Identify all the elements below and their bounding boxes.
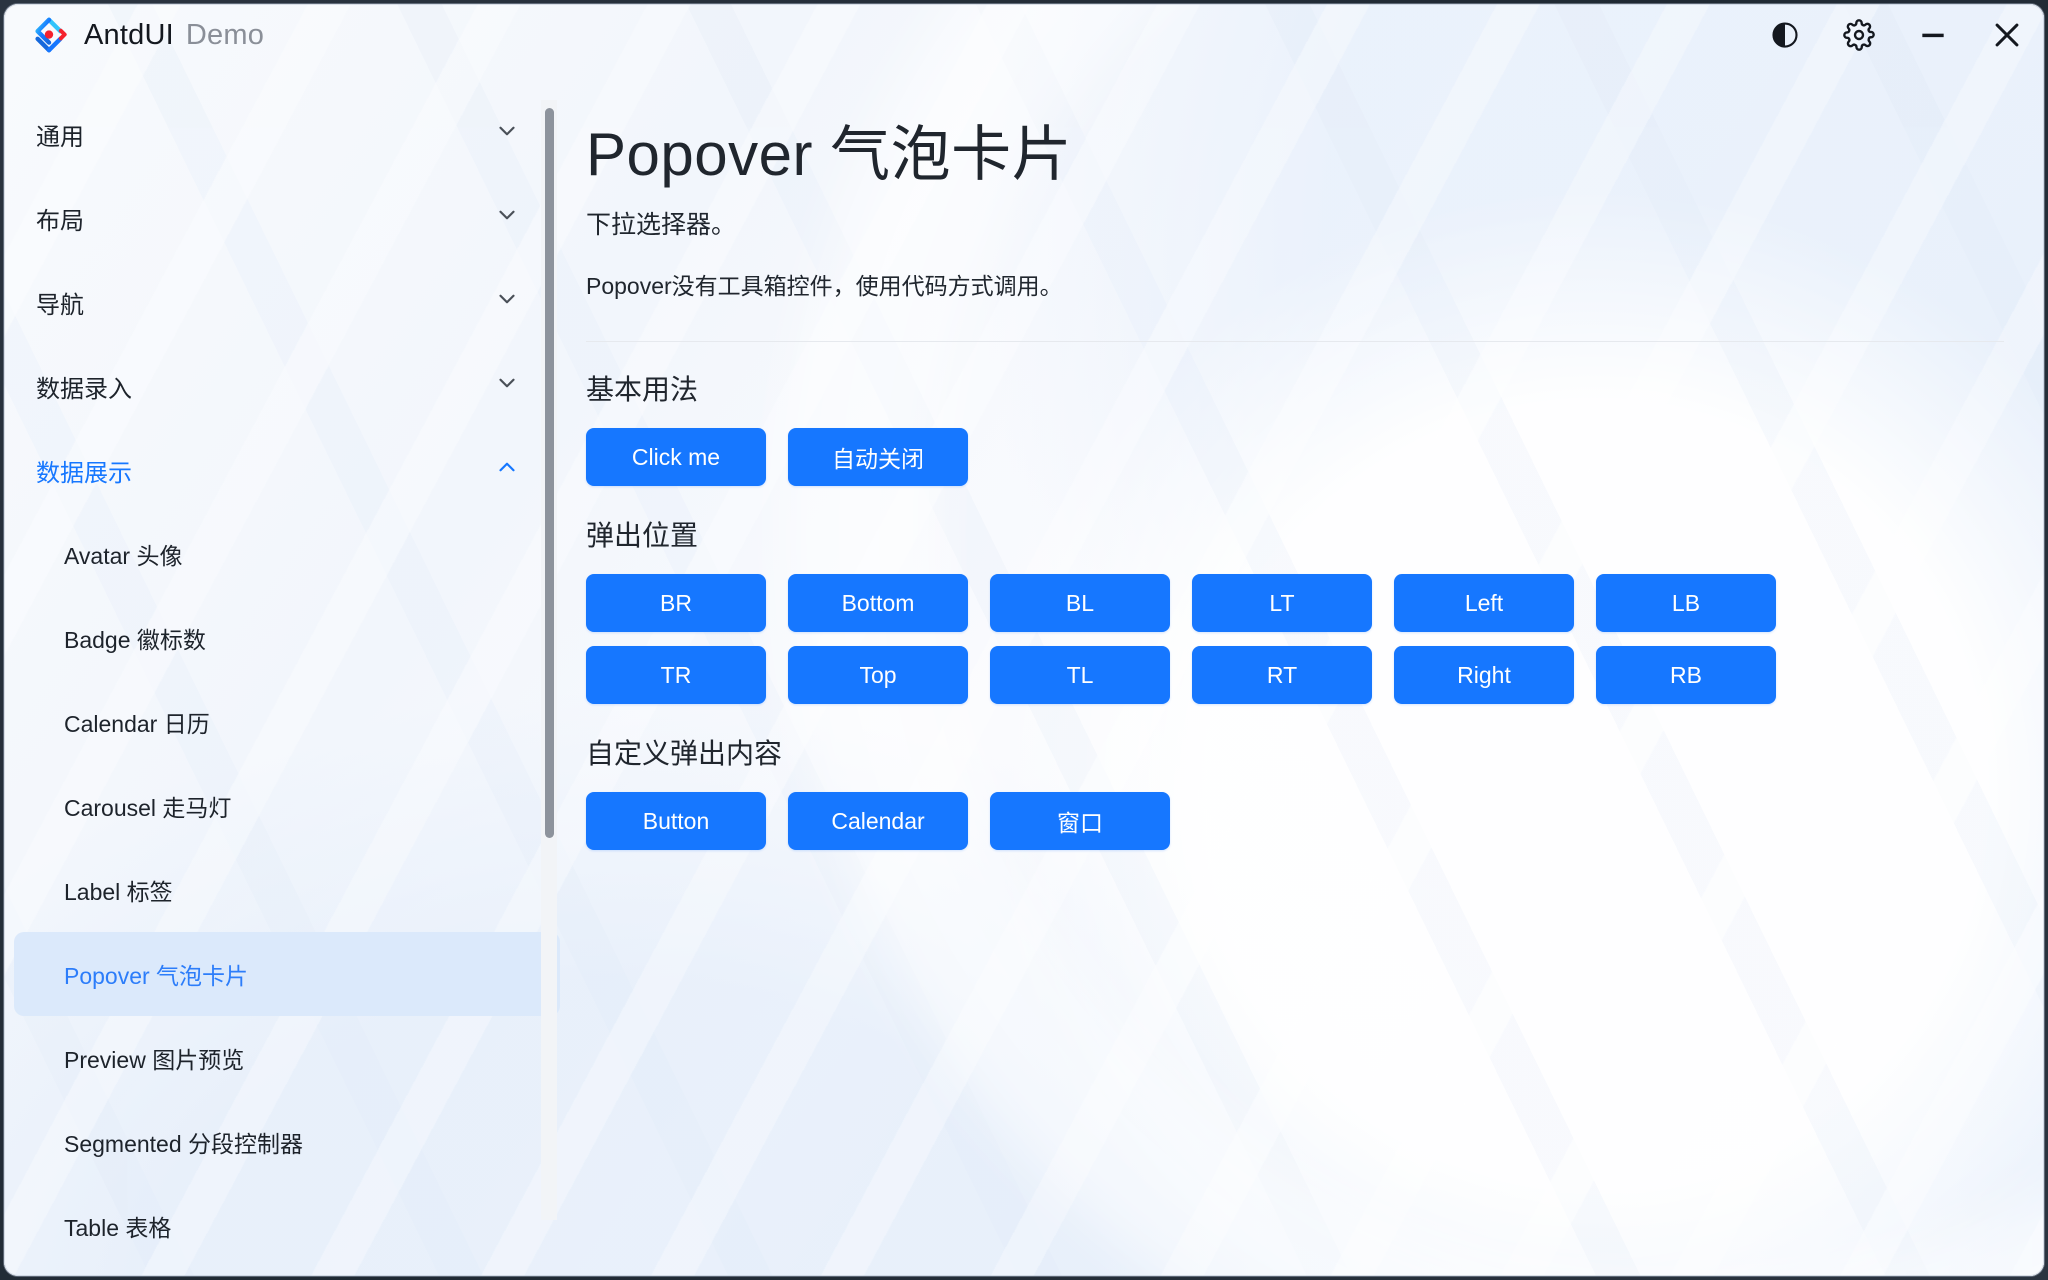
popover-click-me-button[interactable]: Click me (586, 428, 766, 486)
sidebar-item-popover[interactable]: Popover 气泡卡片 (14, 932, 560, 1016)
sidebar-group-layout[interactable]: 布局 (4, 176, 570, 260)
sidebar-item-calendar[interactable]: Calendar 日历 (14, 680, 560, 764)
minimize-dash-icon (1917, 19, 1949, 51)
placement-rt-button[interactable]: RT (1192, 646, 1372, 704)
content-panel: Popover 气泡卡片 下拉选择器。 Popover没有工具箱控件，使用代码方… (570, 92, 2044, 1276)
sidebar-item-badge[interactable]: Badge 徽标数 (14, 596, 560, 680)
sidebar-group-label: 布局 (36, 201, 84, 236)
sidebar-item-label: Badge 徽标数 (64, 621, 206, 655)
custom-window-button[interactable]: 窗口 (990, 792, 1170, 850)
placement-lb-button[interactable]: LB (1596, 574, 1776, 632)
close-x-icon (1990, 18, 2024, 52)
placement-tl-button[interactable]: TL (990, 646, 1170, 704)
sidebar-item-label: Preview 图片预览 (64, 1041, 244, 1075)
section-heading-popup-placement: 弹出位置 (586, 514, 2004, 554)
sidebar-item-label: Calendar 日历 (64, 705, 210, 739)
app-title-primary: AntdUI (84, 19, 174, 52)
sidebar-item-label: Label 标签 (64, 873, 173, 907)
chevron-down-icon (494, 286, 520, 319)
sidebar-item-table[interactable]: Table 表格 (14, 1184, 560, 1268)
sidebar-group-data-entry[interactable]: 数据录入 (4, 344, 570, 428)
app-window: AntdUI Demo (4, 4, 2044, 1276)
app-title-secondary: Demo (186, 19, 264, 52)
sidebar-item-label-tag[interactable]: Label 标签 (14, 848, 560, 932)
page-note: Popover没有工具箱控件，使用代码方式调用。 (586, 267, 2004, 301)
sidebar-group-label: 数据展示 (36, 453, 132, 488)
placement-tr-button[interactable]: TR (586, 646, 766, 704)
sidebar-group-label: 导航 (36, 285, 84, 320)
theme-toggle-button[interactable] (1748, 4, 1822, 66)
section-heading-basic-usage: 基本用法 (586, 368, 2004, 408)
sidebar-group-label: 数据录入 (36, 369, 132, 404)
chevron-down-icon (494, 118, 520, 151)
sidebar-group-general[interactable]: 通用 (4, 92, 570, 176)
sidebar-group-navigation[interactable]: 导航 (4, 260, 570, 344)
section-heading-custom-content: 自定义弹出内容 (586, 732, 2004, 772)
placement-bl-button[interactable]: BL (990, 574, 1170, 632)
placement-br-button[interactable]: BR (586, 574, 766, 632)
placement-rb-button[interactable]: RB (1596, 646, 1776, 704)
chevron-down-icon (494, 202, 520, 235)
button-row-custom-content: Button Calendar 窗口 (586, 792, 2004, 850)
placement-lt-button[interactable]: LT (1192, 574, 1372, 632)
antd-diamond-logo-icon (30, 16, 68, 54)
settings-button[interactable] (1822, 4, 1896, 66)
custom-calendar-button[interactable]: Calendar (788, 792, 968, 850)
window-controls (1748, 4, 2044, 66)
sidebar-navigation[interactable]: 通用 布局 导航 数据录入 数据展示 (4, 92, 570, 1276)
placement-top-button[interactable]: Top (788, 646, 968, 704)
page-subtitle: 下拉选择器。 (586, 205, 2004, 241)
sidebar-item-label: Segmented 分段控制器 (64, 1125, 303, 1159)
chevron-down-icon (494, 370, 520, 403)
sidebar-item-label: Table 表格 (64, 1209, 171, 1243)
button-row-placement-1: BR Bottom BL LT Left LB (586, 574, 2004, 632)
sidebar-group-data-display[interactable]: 数据展示 (4, 428, 570, 512)
sidebar-scrollbar-thumb[interactable] (545, 108, 554, 838)
sidebar-item-label: Carousel 走马灯 (64, 789, 231, 823)
close-button[interactable] (1970, 4, 2044, 66)
sidebar-item-avatar[interactable]: Avatar 头像 (14, 512, 560, 596)
placement-right-button[interactable]: Right (1394, 646, 1574, 704)
minimize-button[interactable] (1896, 4, 1970, 66)
sidebar-group-label: 通用 (36, 117, 84, 152)
custom-button-button[interactable]: Button (586, 792, 766, 850)
placement-left-button[interactable]: Left (1394, 574, 1574, 632)
popover-auto-close-button[interactable]: 自动关闭 (788, 428, 968, 486)
sidebar-item-segmented[interactable]: Segmented 分段控制器 (14, 1100, 560, 1184)
placement-bottom-button[interactable]: Bottom (788, 574, 968, 632)
half-circle-contrast-icon (1770, 20, 1800, 50)
button-row-basic-usage: Click me 自动关闭 (586, 428, 2004, 486)
button-row-placement-2: TR Top TL RT Right RB (586, 646, 2004, 704)
gear-icon (1843, 19, 1875, 51)
sidebar-item-carousel[interactable]: Carousel 走马灯 (14, 764, 560, 848)
app-brand: AntdUI Demo (4, 16, 264, 54)
sidebar-item-label: Avatar 头像 (64, 537, 182, 571)
content-divider (586, 341, 2004, 342)
title-bar: AntdUI Demo (4, 4, 2044, 66)
sidebar-item-label: Popover 气泡卡片 (64, 957, 248, 991)
page-title: Popover 气泡卡片 (586, 120, 2004, 189)
sidebar-item-preview[interactable]: Preview 图片预览 (14, 1016, 560, 1100)
chevron-up-icon (494, 454, 520, 487)
